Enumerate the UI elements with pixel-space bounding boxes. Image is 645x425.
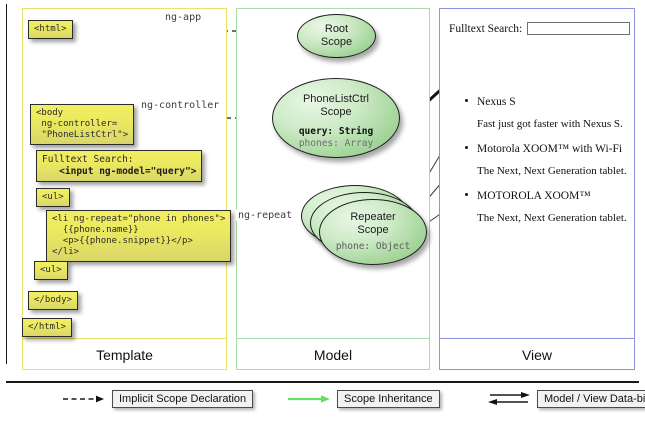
code-box-body-close: </body> xyxy=(28,291,78,310)
panel-template-label: Template xyxy=(22,338,227,370)
scope-phonelistctrl-title: PhoneListCtrlScope xyxy=(273,93,399,119)
code-box-html-open: <html> xyxy=(28,20,73,39)
view-rendered-page: Fulltext Search: Nexus S Fast just got f… xyxy=(443,12,633,334)
view-search-row: Fulltext Search: xyxy=(449,22,630,35)
code-box-search-line2: <input ng-model="query"> xyxy=(42,166,196,177)
code-box-html-close: </html> xyxy=(22,318,72,337)
edge-label-ng-app: ng-app xyxy=(163,12,203,23)
scope-repeater-properties: phone: Object xyxy=(320,241,426,252)
bullet-icon xyxy=(465,99,468,102)
view-item-snippet: The Next, Next Generation tablet. xyxy=(477,165,631,178)
legend-item-scope-inheritance: Scope Inheritance xyxy=(287,390,440,408)
legend-label: Model / View Data-binding xyxy=(537,390,645,408)
view-list-item[interactable]: Motorola XOOM™ with Wi-Fi The Next, Next… xyxy=(465,143,631,178)
scope-repeater: RepeaterScope phone: Object xyxy=(319,199,427,265)
green-arrow-icon xyxy=(287,393,331,405)
dashed-arrow-icon xyxy=(62,393,106,405)
scope-property-query: query: String xyxy=(299,126,373,137)
search-input[interactable] xyxy=(527,22,630,35)
view-item-snippet: Fast just got faster with Nexus S. xyxy=(477,118,631,131)
legend-label: Scope Inheritance xyxy=(337,390,440,408)
double-arrow-icon xyxy=(487,391,531,407)
view-item-title: Nexus S xyxy=(477,96,631,109)
panel-model-label: Model xyxy=(236,338,430,370)
scope-root-title: RootScope xyxy=(298,23,375,49)
legend-divider xyxy=(6,381,639,383)
diagram-canvas: Template Model View <html> <body ng-cont… xyxy=(0,0,645,425)
code-box-search-input: Fulltext Search: <input ng-model="query"… xyxy=(36,150,202,182)
bullet-icon xyxy=(465,193,468,196)
scope-property-phones: phones: Array xyxy=(299,138,373,149)
edge-label-ng-controller: ng-controller xyxy=(139,100,221,111)
scope-phonelistctrl: PhoneListCtrlScope query: Stringphones: … xyxy=(272,78,400,158)
code-box-li-repeat: <li ng-repeat="phone in phones"> {{phone… xyxy=(46,210,231,262)
code-box-search-line1: Fulltext Search: xyxy=(42,154,134,165)
code-box-ul-open: <ul> xyxy=(36,188,70,207)
view-item-snippet: The Next, Next Generation tablet. xyxy=(477,212,631,225)
legend-item-model-view-data-binding: Model / View Data-binding xyxy=(487,390,645,408)
code-box-ul-close: <ul> xyxy=(34,261,68,280)
edge-label-ng-repeat: ng-repeat xyxy=(236,210,294,221)
view-item-title: Motorola XOOM™ with Wi-Fi xyxy=(477,143,631,156)
scope-root: RootScope xyxy=(297,14,376,58)
scope-phonelistctrl-properties: query: Stringphones: Array xyxy=(273,126,399,150)
view-list-item[interactable]: Nexus S Fast just got faster with Nexus … xyxy=(465,96,631,131)
view-list-item[interactable]: MOTOROLA XOOM™ The Next, Next Generation… xyxy=(465,190,631,225)
code-box-body-open: <body ng-controller= "PhoneListCtrl"> xyxy=(30,104,134,145)
panel-view-label: View xyxy=(439,338,635,370)
legend-label: Implicit Scope Declaration xyxy=(112,390,253,408)
view-item-title: MOTOROLA XOOM™ xyxy=(477,190,631,203)
scope-repeater-title: RepeaterScope xyxy=(320,211,426,237)
legend-item-implicit-scope-declaration: Implicit Scope Declaration xyxy=(62,390,253,408)
bullet-icon xyxy=(465,146,468,149)
search-label: Fulltext Search: xyxy=(449,23,522,35)
